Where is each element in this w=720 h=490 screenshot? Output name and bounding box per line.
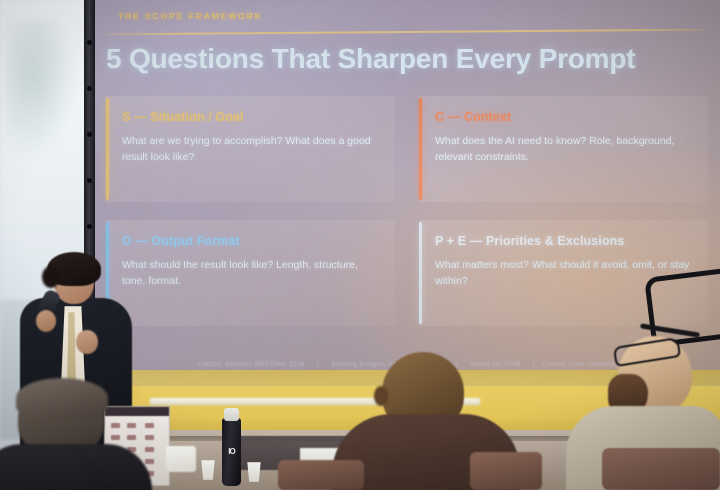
footer-sep: | (533, 361, 535, 368)
chair-left (278, 460, 364, 490)
sponsor-logo (145, 447, 154, 452)
napkin (166, 446, 196, 472)
audience-member-left (0, 382, 140, 490)
footer-event: CMSDC ANNUAL MEETING 2026 (198, 361, 305, 368)
card-context: C — Context What does the AI need to kno… (419, 96, 708, 202)
card-situation-goal: S — Situation / Goal What are we trying … (106, 96, 395, 202)
card-accent-bar (419, 222, 422, 324)
slide-eyebrow: THE SCOPE FRAMEWORK (118, 11, 263, 21)
card-heading: O — Output Format (122, 234, 379, 248)
sponsor-logo (145, 459, 154, 464)
sponsor-logo (145, 423, 154, 428)
bottle-cap (224, 408, 239, 421)
audience-shoulders (0, 444, 152, 490)
audience-ear (374, 386, 388, 406)
presenter-hand-mic (36, 310, 56, 332)
chair-right (602, 448, 720, 490)
bottle-label: lO (224, 444, 239, 460)
footer-sep: | (317, 361, 319, 368)
sponsor-logo (145, 435, 154, 440)
card-output-format: O — Output Format What should the result… (106, 220, 395, 326)
card-accent-bar (106, 98, 109, 200)
presenter-hand-gesture (76, 330, 98, 354)
card-heading: C — Context (435, 110, 692, 124)
slide: THE SCOPE FRAMEWORK 5 Questions That Sha… (92, 0, 720, 386)
slide-card-grid: S — Situation / Goal What are we trying … (106, 96, 708, 326)
projection-screen: THE SCOPE FRAMEWORK 5 Questions That Sha… (92, 0, 720, 386)
audience-hair (16, 378, 108, 418)
card-body: What are we trying to accomplish? What d… (122, 133, 379, 166)
card-heading: S — Situation / Goal (122, 110, 379, 124)
card-accent-bar (419, 98, 422, 200)
presenter-hair (47, 252, 101, 286)
card-heading: P + E — Priorities & Exclusions (435, 234, 692, 248)
slide-divider-rule (106, 29, 704, 36)
chair-center (470, 452, 542, 490)
slide-title: 5 Questions That Sharpen Every Prompt (106, 43, 706, 75)
water-bottle: lO (222, 418, 241, 486)
card-body: What should the result look like? Length… (122, 257, 379, 290)
presentation-photo: THE SCOPE FRAMEWORK 5 Questions That Sha… (0, 0, 720, 490)
card-body: What does the AI need to know? Role, bac… (435, 133, 692, 166)
